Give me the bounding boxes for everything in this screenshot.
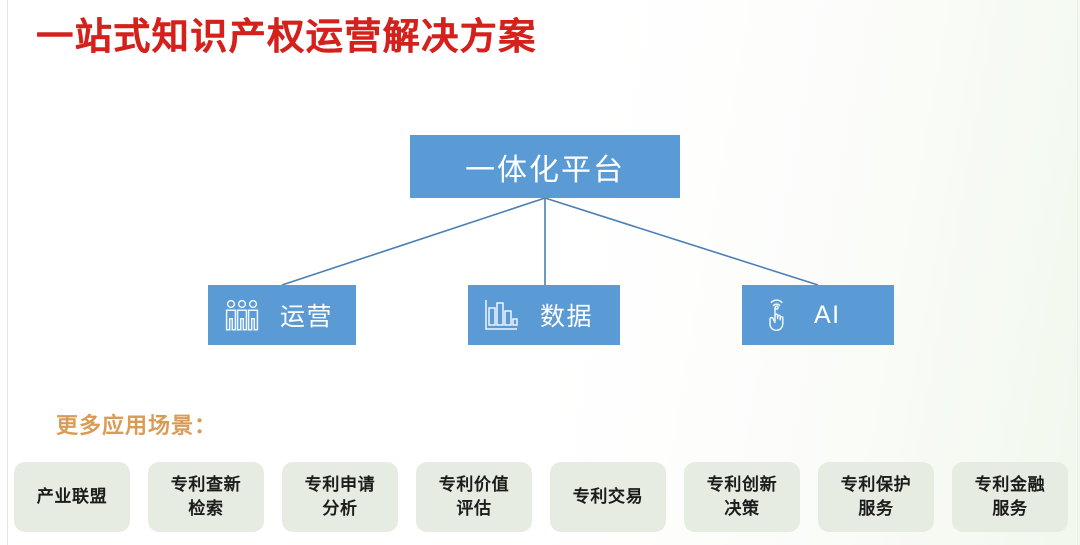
scenario-tag-line: 专利申请 xyxy=(305,473,375,497)
scenario-tag-line: 专利价值 xyxy=(439,473,509,497)
node-ai[interactable]: AI xyxy=(742,285,894,345)
node-data-label: 数据 xyxy=(540,297,593,333)
scenario-tag[interactable]: 产业联盟 xyxy=(14,462,130,532)
node-operations-label: 运营 xyxy=(280,297,333,333)
scenario-tag[interactable]: 专利保护 服务 xyxy=(818,462,934,532)
node-operations[interactable]: 运营 xyxy=(208,285,356,345)
scenario-tag-line: 服务 xyxy=(858,497,893,521)
node-data[interactable]: 数据 xyxy=(468,285,620,345)
scenario-tag-line: 专利金融 xyxy=(975,473,1045,497)
scenario-tag-line: 检索 xyxy=(188,497,223,521)
scenario-tag-line: 评估 xyxy=(456,497,491,521)
scenario-tag-line: 专利创新 xyxy=(707,473,777,497)
scenario-tag[interactable]: 专利查新 检索 xyxy=(148,462,264,532)
scenario-tag[interactable]: 专利创新 决策 xyxy=(684,462,800,532)
scenario-tag-line: 决策 xyxy=(724,497,759,521)
node-ai-label: AI xyxy=(814,301,841,330)
scenario-tag[interactable]: 专利价值 评估 xyxy=(416,462,532,532)
scenario-tag-line: 产业联盟 xyxy=(37,485,107,509)
node-platform[interactable]: 一体化平台 xyxy=(410,135,680,198)
scenario-tag[interactable]: 专利金融 服务 xyxy=(952,462,1068,532)
bar-chart-icon xyxy=(480,293,524,337)
touch-hand-icon xyxy=(754,293,798,337)
scenario-tag-line: 服务 xyxy=(992,497,1027,521)
node-platform-label: 一体化平台 xyxy=(465,145,625,189)
scenario-tag-line: 专利查新 xyxy=(171,473,241,497)
scenario-tag[interactable]: 专利申请 分析 xyxy=(282,462,398,532)
slide-canvas: 一站式知识产权运营解决方案 一体化平台 运营 xyxy=(0,0,1080,545)
platform-diagram: 一体化平台 运营 xyxy=(0,0,1080,400)
scenario-tag[interactable]: 专利交易 xyxy=(550,462,666,532)
three-people-icon xyxy=(220,293,264,337)
scenario-tag-line: 分析 xyxy=(322,497,357,521)
more-scenarios-label: 更多应用场景： xyxy=(56,408,217,440)
scenario-tag-row: 产业联盟 专利查新 检索 专利申请 分析 专利价值 评估 专利交易 专利创新 决… xyxy=(14,462,1068,534)
scenario-tag-line: 专利交易 xyxy=(573,485,643,509)
scenario-tag-line: 专利保护 xyxy=(841,473,911,497)
